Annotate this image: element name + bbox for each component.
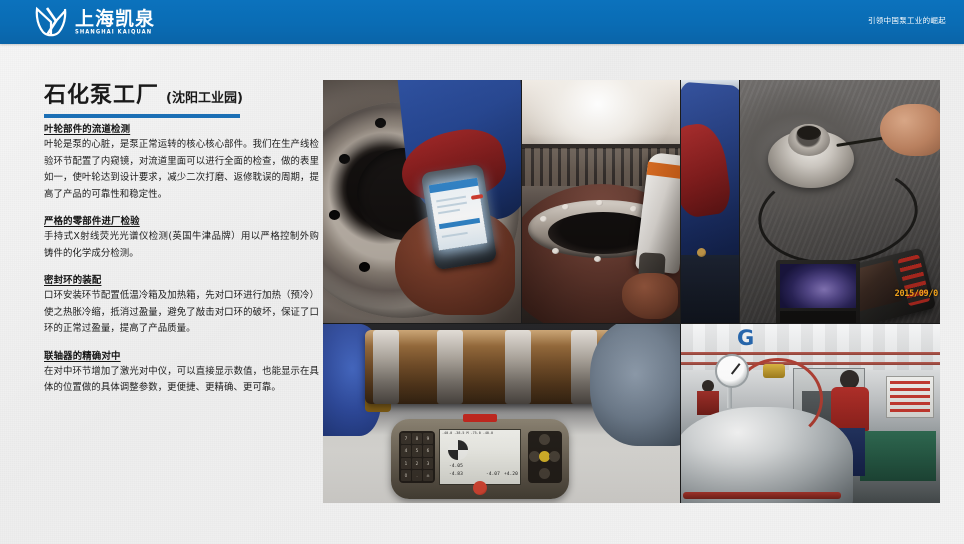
nav-key-down[interactable] xyxy=(539,468,550,479)
photo-timestamp: 2015/09/0 xyxy=(895,289,938,299)
section-body: 口环安装环节配置低温冷箱及加热箱，先对口环进行加热（预冷）使之热胀冷缩，抵消过盈… xyxy=(44,288,319,338)
keypad-key[interactable]: 9 xyxy=(423,433,433,444)
keypad-key[interactable]: 0 xyxy=(401,470,411,481)
tool-navigation-keys[interactable] xyxy=(528,431,562,483)
pressure-gauge-dial xyxy=(715,354,749,388)
laser-alignment-tool-device: 7 8 9 4 5 6 1 2 3 0 . ± -40.0 -3 xyxy=(391,419,569,499)
display-value-foot-rear: +4.20 xyxy=(504,472,518,477)
body-text-column: 叶轮部件的流道检测 叶轮是泵的心脏，是泵正常运转的核心核心部件。我们在生产线检验… xyxy=(44,122,319,408)
operator-hand-shape xyxy=(880,104,940,156)
tester-screen-line xyxy=(437,202,467,209)
tool-display-screen: -40.0 -38.5 M -75.0 -40.0 -4.05 -4.83 -4… xyxy=(439,429,521,485)
slide-root: 上海凯泉 SHANGHAI KAIQUAN 引领中国泵工业的崛起 石化泵工厂 (… xyxy=(0,0,964,544)
flange-bolt xyxy=(329,210,340,220)
section-heading: 密封环的装配 xyxy=(44,273,319,288)
section-impeller-flow-inspection: 叶轮部件的流道检测 叶轮是泵的心脏，是泵正常运转的核心核心部件。我们在生产线检验… xyxy=(44,122,319,203)
tester-screen xyxy=(429,178,488,251)
vessel-brass-valve-shape xyxy=(763,364,785,378)
display-value-vertical: -4.05 xyxy=(449,464,463,469)
vessel-red-band xyxy=(683,492,841,499)
flange-bolt xyxy=(375,118,386,128)
keypad-key[interactable]: 8 xyxy=(412,433,422,444)
display-value-foot-front: -4.07 xyxy=(486,472,500,477)
keypad-key[interactable]: 7 xyxy=(401,433,411,444)
operator-hand-shape xyxy=(622,273,678,319)
keypad-key[interactable]: 3 xyxy=(423,458,433,469)
casing-bolt xyxy=(562,204,569,210)
page-header: 上海凯泉 SHANGHAI KAIQUAN 引领中国泵工业的崛起 xyxy=(0,0,964,44)
keypad-key[interactable]: 5 xyxy=(412,445,422,456)
header-tagline: 引领中国泵工业的崛起 xyxy=(868,15,946,26)
borescope-preview-image xyxy=(780,264,856,308)
shaft-collar xyxy=(373,330,399,404)
nav-key-up[interactable] xyxy=(539,434,550,445)
tool-power-button[interactable] xyxy=(473,481,487,495)
photo-impeller-flange-inspection xyxy=(323,80,521,323)
keypad-key[interactable]: ± xyxy=(423,470,433,481)
workshop-bay-label: G xyxy=(737,326,754,350)
keypad-key[interactable]: . xyxy=(412,470,422,481)
keypad-key[interactable]: 2 xyxy=(412,458,422,469)
photo-cryo-heating-workshop: G xyxy=(681,324,940,503)
jacket-button-shape xyxy=(697,248,706,257)
photo-borescope-inspection: 2015/09/0 xyxy=(740,80,940,323)
title-block: 石化泵工厂 (沈阳工业园) xyxy=(44,84,324,118)
display-header-readout: -40.0 -38.5 M -75.0 -40.0 xyxy=(442,431,493,435)
brand-name-cn: 上海凯泉 xyxy=(75,9,155,29)
photo-collage: 2015/09/0 7 8 xyxy=(323,80,940,503)
casing-bolt xyxy=(540,216,547,222)
borescope-preview-controls xyxy=(780,311,856,323)
kaiquan-logo-icon xyxy=(34,6,68,38)
tester-screen-line xyxy=(442,232,468,238)
page-title: 石化泵工厂 xyxy=(44,84,159,108)
photo-worker-strip xyxy=(681,80,739,323)
foreground-worker-uniform-top xyxy=(831,387,869,431)
brand-name-en: SHANGHAI KAIQUAN xyxy=(75,29,155,37)
borescope-preview-monitor xyxy=(776,260,860,323)
brand-logo[interactable]: 上海凯泉 SHANGHAI KAIQUAN xyxy=(34,5,155,39)
page-subtitle: (沈阳工业园) xyxy=(166,87,243,111)
wall-information-board xyxy=(886,376,934,418)
keypad-key[interactable]: 1 xyxy=(401,458,411,469)
casing-bolt xyxy=(630,206,637,212)
shaft-collar xyxy=(437,330,463,404)
photo-xrf-casing-inspection xyxy=(522,80,680,323)
section-body: 叶轮是泵的心脏，是泵正常运转的核心核心部件。我们在生产线检验环节配置了内窥镜，对… xyxy=(44,137,319,203)
tool-numeric-keypad[interactable]: 7 8 9 4 5 6 1 2 3 0 . ± xyxy=(399,431,435,483)
photo-laser-shaft-alignment: 7 8 9 4 5 6 1 2 3 0 . ± -40.0 -3 xyxy=(323,324,680,503)
casing-bolt xyxy=(596,200,603,206)
tester-screen-titlebar xyxy=(429,178,479,194)
casing-bolt xyxy=(552,248,559,254)
section-body: 在对中环节增加了激光对中仪，可以直接显示数值，也能显示在具体的位置做的具体调整参… xyxy=(44,364,319,397)
keypad-key[interactable]: 6 xyxy=(423,445,433,456)
section-body: 手持式X射线荧光光谱仪检测(英国牛津品牌）用以严格控制外购铸件的化学成分检测。 xyxy=(44,229,319,262)
flange-bolt xyxy=(339,154,350,164)
tool-brand-label xyxy=(463,414,497,422)
tester-screen-line xyxy=(438,209,460,214)
shaft-assembly-shape xyxy=(365,330,615,404)
casing-bolt xyxy=(594,256,601,262)
section-heading: 叶轮部件的流道检测 xyxy=(44,122,319,137)
worker-lower-shadow xyxy=(681,255,739,323)
flange-bolt xyxy=(359,262,370,272)
pump-body-shape xyxy=(590,324,680,446)
shaft-collar xyxy=(505,330,531,404)
xrf-analyzer-accent-band xyxy=(647,162,680,180)
green-partition-shape xyxy=(860,431,936,481)
section-heading: 严格的零部件进厂检验 xyxy=(44,214,319,229)
alignment-crosshair-indicator xyxy=(448,440,468,460)
section-coupling-alignment: 联轴器的精确对中 在对中环节增加了激光对中仪，可以直接显示数值，也能显示在具体的… xyxy=(44,349,319,397)
section-seal-ring-assembly: 密封环的装配 口环安装环节配置低温冷箱及加热箱，先对口环进行加热（预冷）使之热胀… xyxy=(44,273,319,338)
workshop-pipe xyxy=(681,352,940,355)
keypad-key[interactable]: 4 xyxy=(401,445,411,456)
background-worker-body xyxy=(697,391,719,415)
display-value-horizontal: -4.83 xyxy=(449,472,463,477)
title-underline-rule xyxy=(44,114,240,118)
tester-screen-progressbar xyxy=(439,218,480,229)
nav-key-right[interactable] xyxy=(549,451,560,462)
wall-board-contents xyxy=(890,381,930,413)
section-heading: 联轴器的精确对中 xyxy=(44,349,319,364)
background-worker-shape xyxy=(697,380,719,414)
section-incoming-parts-inspection: 严格的零部件进厂检验 手持式X射线荧光光谱仪检测(英国牛津品牌）用以严格控制外购… xyxy=(44,214,319,262)
impeller-eye-shape xyxy=(797,126,821,140)
